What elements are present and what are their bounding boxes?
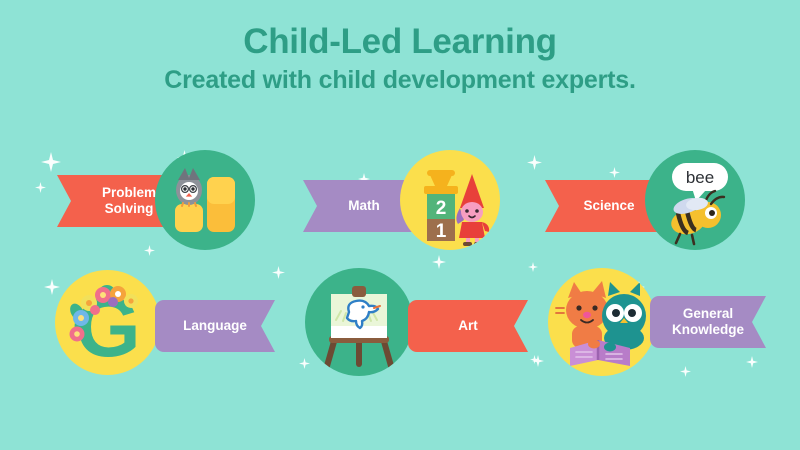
sparkle-icon <box>609 167 620 178</box>
banner-label-line: Art <box>452 318 484 334</box>
sparkle-icon <box>144 245 155 256</box>
sparkle-icon <box>528 262 538 272</box>
banner-label-line: Language <box>177 318 253 334</box>
page-title: Child-Led Learning <box>0 22 800 61</box>
number-blocks-gnome-icon: 2 1 <box>400 150 500 250</box>
banner-label-line: General <box>666 306 750 322</box>
banner-label-line: Knowledge <box>666 322 750 338</box>
sparkle-icon <box>272 266 285 279</box>
sparkle-icon <box>680 366 691 377</box>
banner-label-line: Problem <box>96 185 162 201</box>
bee-icon: bee <box>645 150 745 250</box>
sparkle-icon <box>44 279 60 295</box>
circle-language[interactable]: G <box>55 270 160 375</box>
letter-g-flowers-icon: G <box>55 270 160 375</box>
owl-on-blocks-icon <box>155 150 255 250</box>
banner-label-line: Science <box>577 198 640 214</box>
banner-general-knowledge[interactable]: General Knowledge <box>650 296 766 348</box>
banner-art[interactable]: Art <box>408 300 528 352</box>
easel-painting-icon <box>305 268 413 376</box>
circle-problem-solving[interactable] <box>155 150 255 250</box>
banner-language[interactable]: Language <box>155 300 275 352</box>
banner-label-line: Math <box>342 198 386 214</box>
sparkle-icon <box>527 155 542 170</box>
circle-art[interactable] <box>305 268 413 376</box>
circle-math[interactable]: 2 1 <box>400 150 500 250</box>
svg-text:bee: bee <box>686 168 714 187</box>
svg-text:1: 1 <box>436 221 447 242</box>
header: Child-Led Learning Created with child de… <box>0 22 800 95</box>
svg-text:2: 2 <box>436 198 447 219</box>
sparkle-icon <box>41 152 61 172</box>
learning-categories-poster: Child-Led Learning Created with child de… <box>0 0 800 450</box>
circle-general-knowledge[interactable] <box>548 268 656 376</box>
sparkle-icon <box>746 356 758 368</box>
banner-label-line: Solving <box>96 201 162 217</box>
sparkle-icon <box>35 182 46 193</box>
cat-owl-reading-book-icon <box>548 268 656 376</box>
circle-science[interactable]: bee <box>645 150 745 250</box>
sparkle-icon <box>299 358 310 369</box>
page-subtitle: Created with child development experts. <box>0 65 800 95</box>
sparkle-icon <box>432 255 446 269</box>
